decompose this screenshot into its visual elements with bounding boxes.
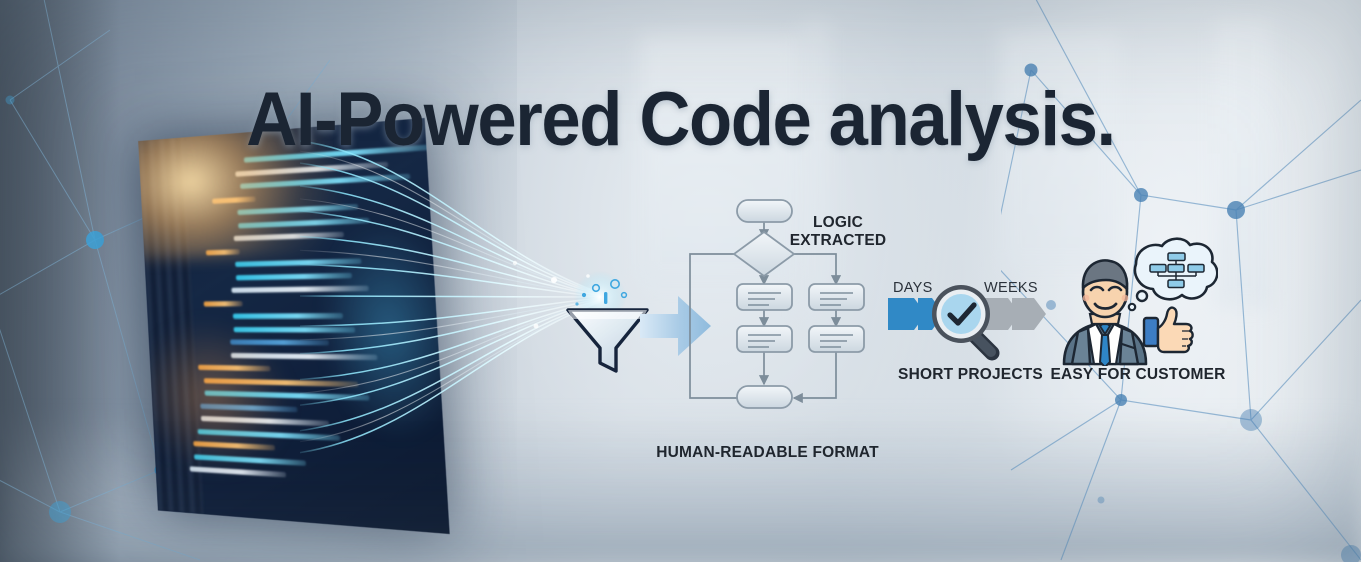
page-title: AI-Powered Code analysis. (48, 76, 1314, 163)
ai-code-analysis-banner: LOGIC EXTRACTED HUMAN-READABLE FORMAT DA… (0, 0, 1361, 562)
